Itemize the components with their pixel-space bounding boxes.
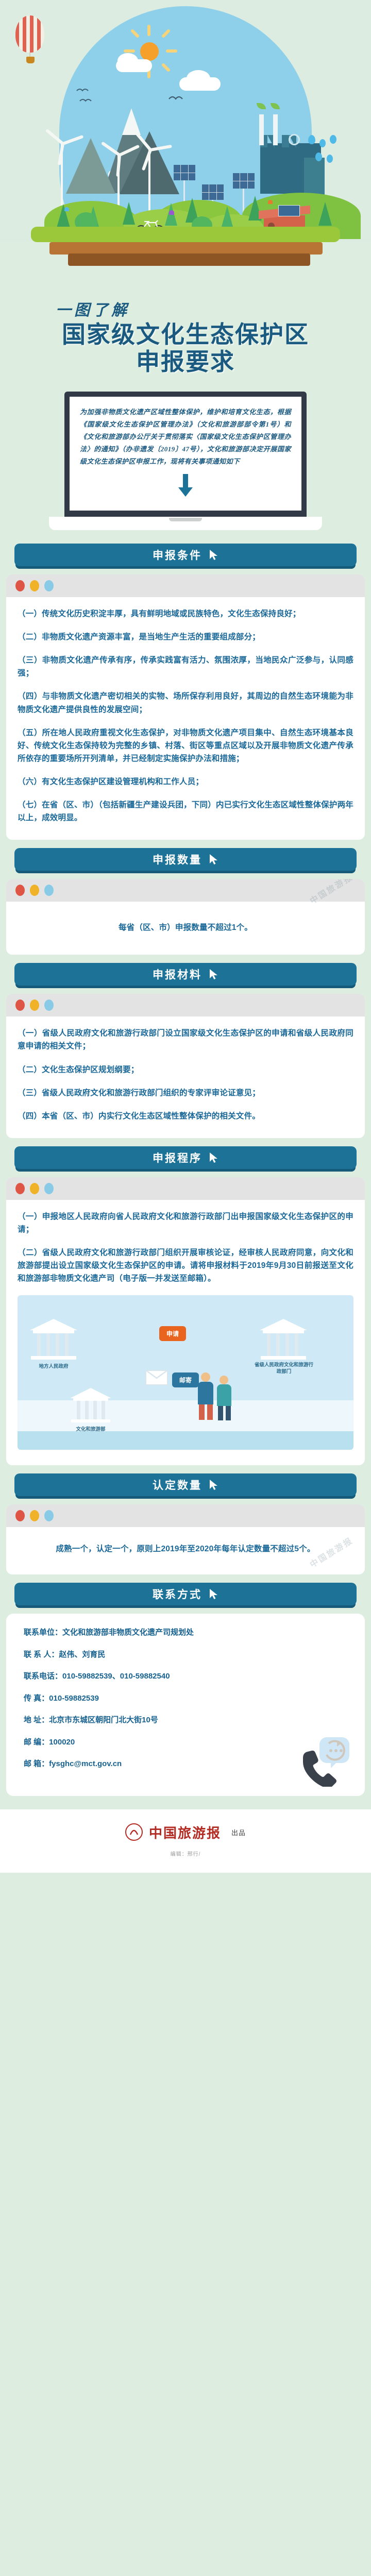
window-minimize-dot[interactable] xyxy=(30,1510,39,1521)
window-titlebar xyxy=(6,1504,365,1527)
card-shenbao-tiaojian: （一）传统文化历史积淀丰厚，具有鲜明地域或民族特色，文化生态保持良好； （二）非… xyxy=(6,574,365,840)
contact-row: 传 真：010-59882539 xyxy=(24,1693,347,1705)
contact-value: 赵伟、刘育民 xyxy=(59,1650,105,1659)
window-titlebar xyxy=(6,574,365,597)
cloud-icon xyxy=(117,53,138,69)
window-body: （一）省级人民政府文化和旅游行政部门设立国家级文化生态保护区的申请和省级人民政府… xyxy=(6,1016,365,1138)
ground-layers xyxy=(0,242,371,269)
contact-label: 联系电话： xyxy=(24,1672,62,1681)
clause-item: （三）省级人民政府文化和旅游行政部门组织的专家评审论证意见； xyxy=(18,1087,353,1099)
section-title: 申报条件 xyxy=(153,547,202,563)
clause-item: （二）省级人民政府文化和旅游行政部门组织开展审核论证，经审核人民政府同意，向文化… xyxy=(18,1246,353,1285)
window-close-dot[interactable] xyxy=(15,885,25,896)
contact-label: 邮 编： xyxy=(24,1738,49,1747)
flow-label-left: 地方人民政府 xyxy=(23,1362,85,1369)
footer-credit: 编辑：邢行/ xyxy=(0,1850,371,1857)
cloud-icon xyxy=(187,70,210,87)
window-close-dot[interactable] xyxy=(15,1183,25,1194)
section-title: 申报数量 xyxy=(153,852,202,867)
section-header-rending-shuliang: 认定数量 xyxy=(0,1465,371,1496)
section-title: 联系方式 xyxy=(153,1586,202,1602)
window-close-dot[interactable] xyxy=(15,1510,25,1521)
clause-item: （二）文化生态保护区规划纲要； xyxy=(18,1063,353,1076)
section-header-lianxi-fangshi: 联系方式 xyxy=(0,1574,371,1605)
contact-row: 联 系 人：赵伟、刘育民 xyxy=(24,1649,347,1661)
clause-item: （一）申报地区人民政府向省人民政府文化和旅游行政部门出申报国家级文化生态保护区的… xyxy=(18,1210,353,1236)
cursor-arrow-icon xyxy=(209,1152,218,1163)
page-title: 国家级文化生态保护区 申报要求 xyxy=(0,321,371,376)
flow-label-right: 省级人民政府文化和旅游行政部门 xyxy=(252,1362,315,1375)
cursor-arrow-icon xyxy=(209,549,218,561)
water-drop-icon xyxy=(319,139,326,147)
water-drop-icon xyxy=(315,152,322,161)
mail-bubble: 邮寄 xyxy=(172,1372,199,1387)
clause-item: （一）省级人民政府文化和旅游行政部门设立国家级文化生态保护区的申请和省级人民政府… xyxy=(18,1027,353,1053)
window-body: 每省（区、市）申报数量不超过1个。 xyxy=(6,902,365,955)
contact-value: fysghc@mct.gov.cn xyxy=(49,1759,122,1768)
card-shenbao-shuliang: 中国旅游报 每省（区、市）申报数量不超过1个。 xyxy=(6,879,365,955)
window-titlebar xyxy=(6,994,365,1016)
window-minimize-dot[interactable] xyxy=(30,999,39,1011)
title-line-2: 申报要求 xyxy=(0,348,371,376)
clause-item: （二）非物质文化遗产资源丰富，是当地生产生活的重要组成部分； xyxy=(18,631,353,643)
cursor-arrow-icon xyxy=(209,969,218,980)
contact-value: 010-59882539、010-59882540 xyxy=(62,1672,170,1681)
contact-row: 联系电话：010-59882539、010-59882540 xyxy=(24,1671,347,1683)
card-rending-shuliang: 中国旅游报 成熟一个，认定一个，原则上2019年至2020年每年认定数量不超过5… xyxy=(6,1504,365,1574)
intro-paragraph: 为加强非物质文化遗产区域性整体保护，维护和培育文化生态，根据《国家级文化生态保护… xyxy=(80,406,291,468)
tree-icon xyxy=(123,202,135,225)
bird-icon xyxy=(167,94,188,104)
window-minimize-dot[interactable] xyxy=(30,885,39,896)
envelope-flap-icon xyxy=(145,1370,168,1385)
section-title: 认定数量 xyxy=(153,1477,202,1493)
window-maximize-dot[interactable] xyxy=(44,1183,54,1194)
hero-illustration xyxy=(0,0,371,242)
intro-laptop: 为加强非物质文化遗产区域性整体保护，维护和培育文化生态，根据《国家级文化生态保护… xyxy=(0,384,371,535)
window-maximize-dot[interactable] xyxy=(44,885,54,896)
card-shenbao-chengxu: （一）申报地区人民政府向省人民政府文化和旅游行政部门出申报国家级文化生态保护区的… xyxy=(6,1177,365,1466)
publisher-suffix: 出品 xyxy=(231,1827,246,1837)
title-line-1: 国家级文化生态保护区 xyxy=(0,321,371,348)
logo-mark-icon xyxy=(125,1823,143,1841)
tree-icon xyxy=(318,202,332,226)
clause-item: （一）传统文化历史积淀丰厚，具有鲜明地域或民族特色，文化生态保持良好； xyxy=(18,607,353,620)
contact-row: 联系单位：文化和旅游部非物质文化遗产司规划处 xyxy=(24,1627,347,1639)
card-shenbao-cailiao: （一）省级人民政府文化和旅游行政部门设立国家级文化生态保护区的申请和省级人民政府… xyxy=(6,994,365,1138)
contact-label: 联 系 人： xyxy=(24,1650,59,1659)
ground-platform xyxy=(31,227,340,242)
butterfly-icon xyxy=(268,200,273,204)
contact-label: 邮 箱： xyxy=(24,1759,49,1768)
publisher-logo: 中国旅游报 出品 xyxy=(125,1823,246,1842)
clause-item: （四）本省（区、市）内实行文化生态区域性整体保护的相关文件。 xyxy=(18,1110,353,1123)
infographic-page: 一图了解 国家级文化生态保护区 申报要求 为加强非物质文化遗产区域性整体保护，维… xyxy=(0,0,371,2576)
water-drop-icon xyxy=(327,155,333,163)
water-drop-icon xyxy=(308,135,315,144)
contact-label: 传 真： xyxy=(24,1694,49,1703)
snow-cap-shape xyxy=(122,108,141,135)
butterfly-icon xyxy=(64,207,69,211)
footer: 中国旅游报 出品 编辑：邢行/ xyxy=(0,1809,371,1873)
section-header-shenbao-cailiao: 申报材料 xyxy=(0,955,371,986)
window-maximize-dot[interactable] xyxy=(44,580,54,591)
window-close-dot[interactable] xyxy=(15,999,25,1011)
clause-item: （六）有文化生态保护区建设管理机构和工作人员； xyxy=(18,775,353,788)
window-maximize-dot[interactable] xyxy=(44,999,54,1011)
window-titlebar xyxy=(6,1177,365,1200)
clause-item: （五）所在地人民政府重视文化生态保护，对非物质文化遗产项目集中、自然生态环境基本… xyxy=(18,726,353,765)
butterfly-icon xyxy=(169,210,174,215)
cursor-arrow-icon xyxy=(209,1588,218,1600)
telephone-handset-icon xyxy=(295,1730,351,1787)
contact-label: 联系单位： xyxy=(24,1628,62,1637)
card-contact: 联系单位：文化和旅游部非物质文化遗产司规划处 联 系 人：赵伟、刘育民 联系电话… xyxy=(6,1614,365,1796)
clause-item: 成熟一个，认定一个，原则上2019年至2020年每年认定数量不超过5个。 xyxy=(18,1543,353,1555)
clause-item: 每省（区、市）申报数量不超过1个。 xyxy=(119,921,252,934)
clause-item: （七）在省（区、市）（包括新疆生产建设兵团，下同）内已实行文化生态区域性整体保护… xyxy=(18,799,353,824)
clause-item: （四）与非物质文化遗产密切相关的实物、场所保存利用良好，其周边的自然生态环境能为… xyxy=(18,690,353,716)
tree-icon xyxy=(222,206,233,227)
birds-icon xyxy=(75,83,111,109)
contact-label: 地 址： xyxy=(24,1716,49,1724)
window-titlebar xyxy=(6,879,365,902)
window-minimize-dot[interactable] xyxy=(30,1183,39,1194)
application-flow-illustration: 地方人民政府 省级人民政府文化和旅游行政部门 xyxy=(18,1295,353,1450)
down-arrow-icon xyxy=(80,474,291,500)
window-body: （一）申报地区人民政府向省人民政府文化和旅游行政部门出申报国家级文化生态保护区的… xyxy=(6,1200,365,1466)
contact-value: 文化和旅游部非物质文化遗产司规划处 xyxy=(62,1628,194,1637)
window-maximize-dot[interactable] xyxy=(44,1510,54,1521)
clause-item: （三）非物质文化遗产传承有序，传承实践富有活力、氛围浓厚，当地民众广泛参与，认同… xyxy=(18,654,353,680)
cursor-arrow-icon xyxy=(209,854,218,865)
section-title: 申报材料 xyxy=(153,967,202,982)
hot-air-balloon-icon xyxy=(15,15,46,67)
window-body: （一）传统文化历史积淀丰厚，具有鲜明地域或民族特色，文化生态保持良好； （二）非… xyxy=(6,597,365,840)
cursor-arrow-icon xyxy=(209,1479,218,1490)
contact-value: 北京市东城区朝阳门北大街10号 xyxy=(49,1716,158,1724)
section-header-shenbao-shuliang: 申报数量 xyxy=(0,840,371,871)
section-header-shenbao-tiaojian: 申报条件 xyxy=(0,535,371,566)
section-title: 申报程序 xyxy=(153,1150,202,1165)
water-drop-icon xyxy=(330,135,336,144)
laptop-screen: 为加强非物质文化遗产区域性整体保护，维护和培育文化生态，根据《国家级文化生态保护… xyxy=(64,392,307,517)
laptop-base xyxy=(49,517,322,530)
apply-bubble: 申请 xyxy=(159,1326,186,1341)
contact-value: 100020 xyxy=(49,1738,75,1747)
window-minimize-dot[interactable] xyxy=(30,580,39,591)
publisher-name: 中国旅游报 xyxy=(149,1823,221,1842)
contact-row: 地 址：北京市东城区朝阳门北大街10号 xyxy=(24,1715,347,1726)
title-block: 一图了解 国家级文化生态保护区 申报要求 xyxy=(0,269,371,384)
contact-value: 010-59882539 xyxy=(49,1694,99,1703)
section-header-shenbao-chengxu: 申报程序 xyxy=(0,1138,371,1169)
window-close-dot[interactable] xyxy=(15,580,25,591)
window-body: 成熟一个，认定一个，原则上2019年至2020年每年认定数量不超过5个。 xyxy=(6,1527,365,1574)
eyebrow-text: 一图了解 xyxy=(56,297,130,320)
